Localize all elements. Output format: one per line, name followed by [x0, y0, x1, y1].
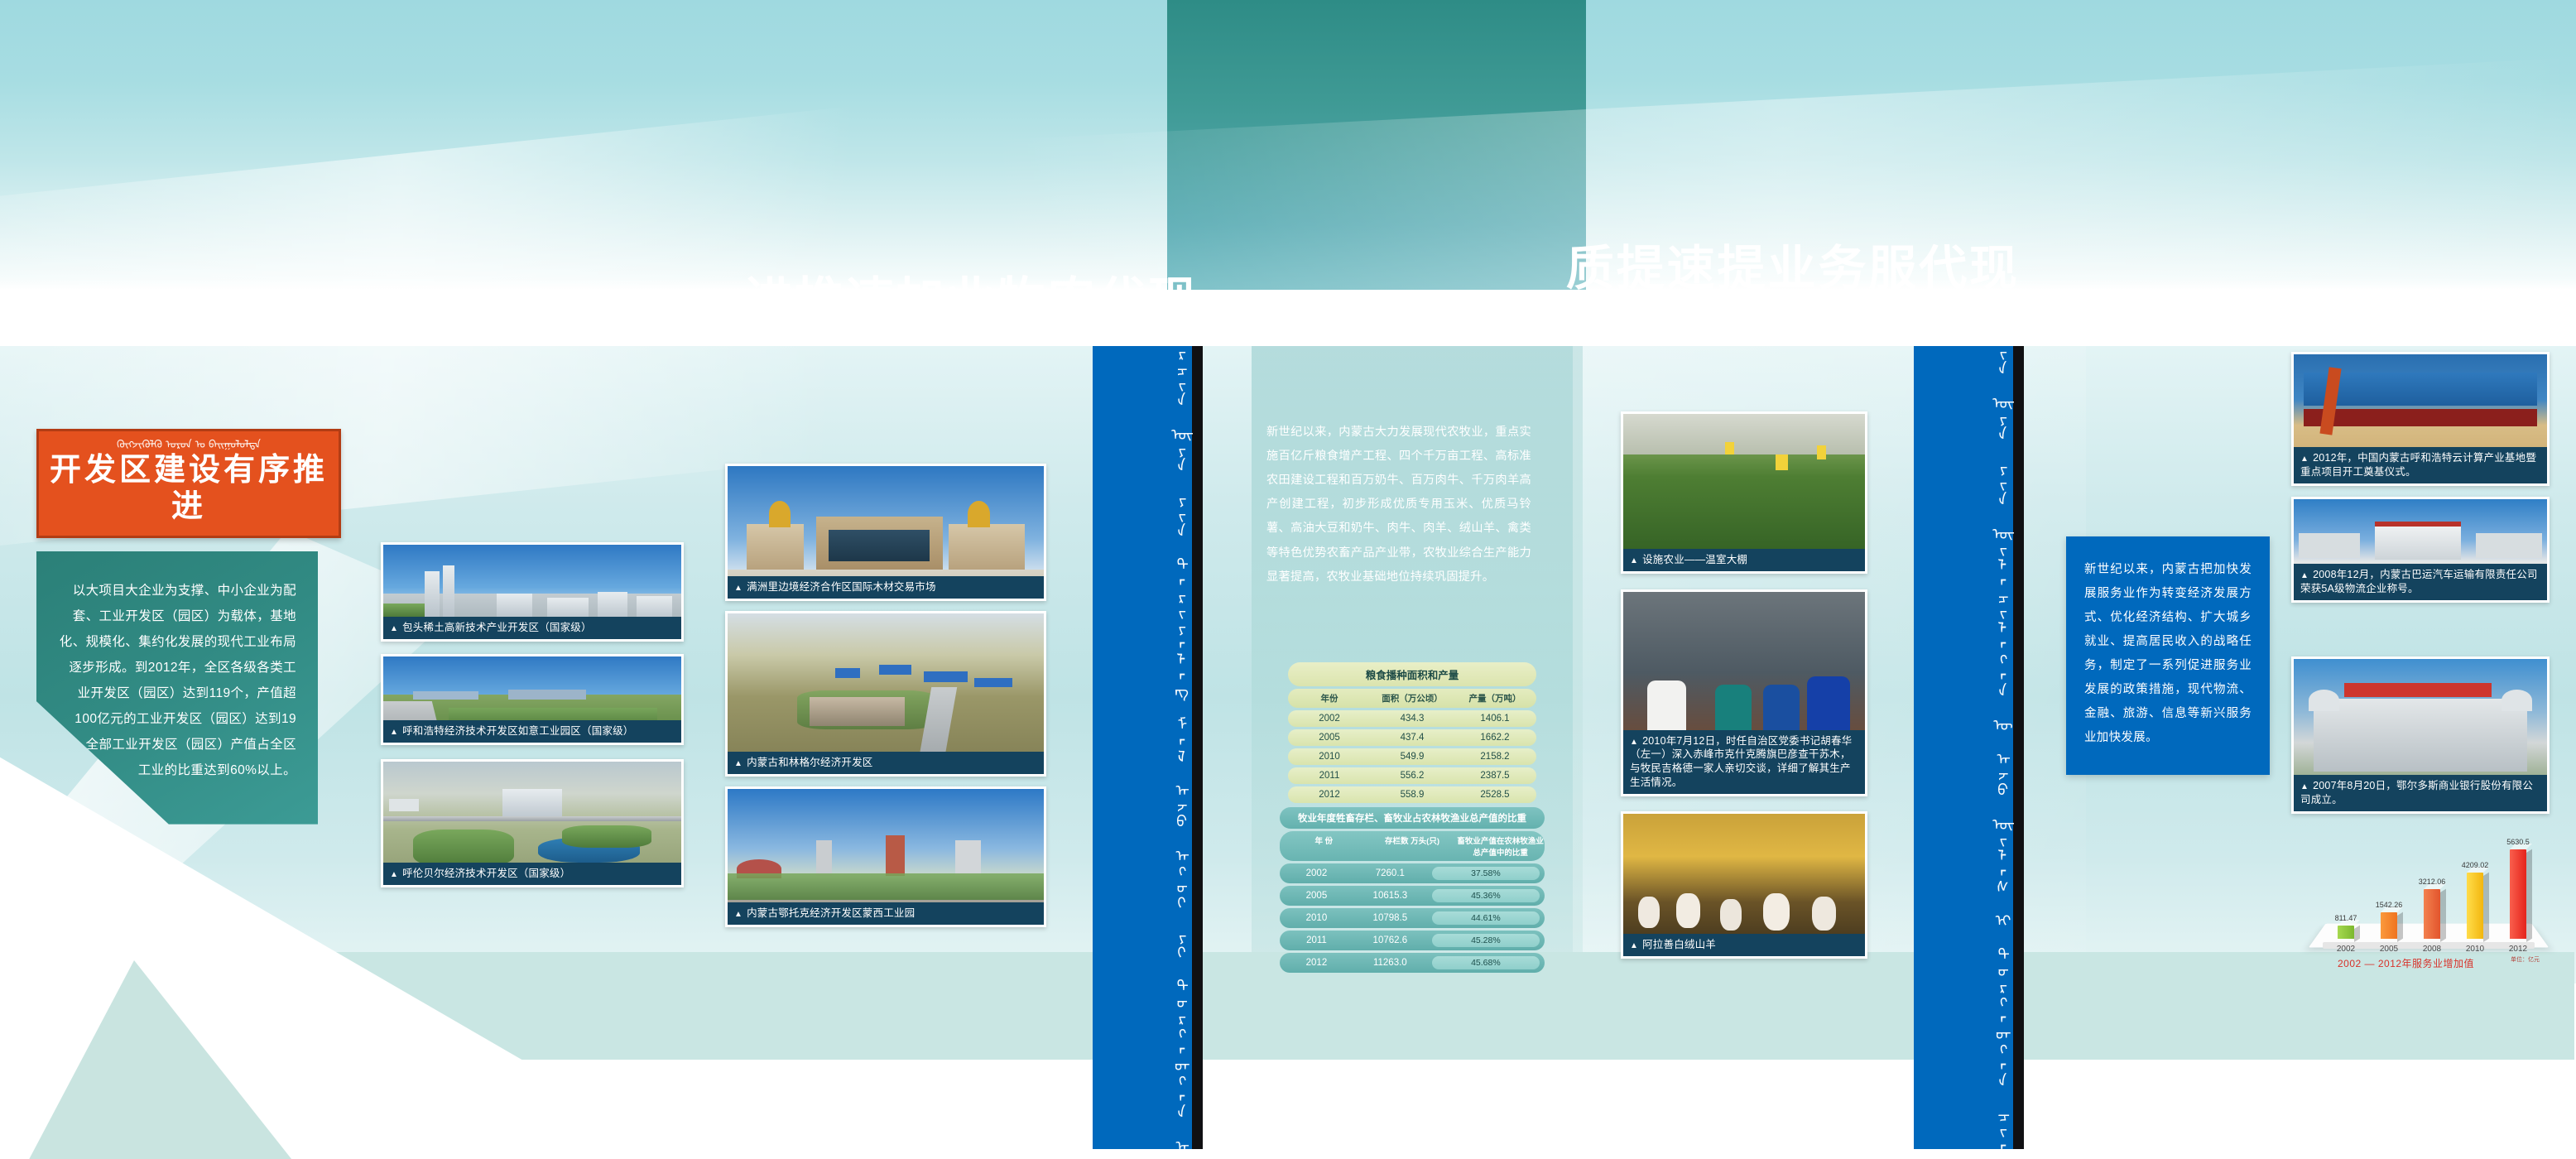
left-section-title-block: ᠬᠥᠭᠵᠢᠭᠦᠯᠬᠦ ᠣᠷᠣᠨ ᠤ ᠪᠠᠢᠭᠤᠯᠤᠯᠲᠠ 开发区建设有序推进 — [36, 429, 341, 538]
photo-card-hohhot-ruyi[interactable]: ▲呼和浩特经济技术开发区如意工业园区（国家级） — [381, 654, 684, 745]
photo-caption: ▲满洲里边境经济合作区国际木材交易市场 — [728, 576, 1044, 599]
share-pill: 45.36% — [1432, 889, 1540, 902]
chart-service-added-value: 811.47 2002 1542.26 2005 3212.06 2008 42… — [2303, 844, 2551, 969]
col-header: 产量（万吨） — [1454, 692, 1536, 705]
vertical-banner-service: 现代服务业提速提质 ᠣᠷᠴᠢᠨ ᠦᠶᠡ ᠶᠢᠨ ᠦᠢᠯᠡᠴᠢᠯᠡᠭᠡᠨ ᠦ ᠠᠵ… — [1914, 346, 2013, 1149]
table-row: 2012 558.9 2528.5 — [1288, 786, 1536, 803]
cell-output: 1406.1 — [1454, 714, 1536, 724]
caption-triangle-icon: ▲ — [2300, 454, 2309, 464]
bar-2005 — [2381, 912, 2397, 939]
photo-card-helingeer[interactable]: ▲内蒙古和林格尔经济开发区 — [725, 611, 1046, 777]
photo-card-cloud-computing[interactable]: ▲2012年，中国内蒙古呼和浩特云计算产业基地暨重点项目开工奠基仪式。 — [2291, 352, 2550, 486]
cell-year: 2012 — [1288, 790, 1371, 800]
bar-value-2002: 811.47 — [2335, 914, 2357, 922]
photo-caption: ▲包头稀土高新技术产业开发区（国家级） — [383, 617, 681, 639]
photo-caption: ▲内蒙古鄂托克经济开发区蒙西工业园 — [728, 902, 1044, 925]
cell-share: 37.58% — [1427, 867, 1545, 880]
photo-card-yurt-visit[interactable]: ▲2010年7月12日，时任自治区党委书记胡春华（左一）深入赤峰市克什克腾旗巴彦… — [1621, 589, 1867, 796]
photo-caption: ▲阿拉善白绒山羊 — [1623, 934, 1865, 956]
cell-area: 549.9 — [1371, 752, 1454, 762]
cell-output: 1662.2 — [1454, 733, 1536, 743]
share-pill: 37.58% — [1432, 867, 1540, 880]
cell-share: 45.68% — [1427, 956, 1545, 969]
left-section-body-panel: 以大项目大企业为支撑、中小企业为配套、工业开发区（园区）为载体，基地化、规模化、… — [36, 551, 318, 825]
table-row: 2012 11263.0 45.68% — [1280, 953, 1545, 973]
bar-value-2012: 5630.5 — [2506, 838, 2530, 846]
center-section-body-text: 新世纪以来，内蒙古大力发展现代农牧业，重点实施百亿斤粮食增产工程、四个千万亩工程… — [1266, 421, 1531, 589]
cell-year: 2002 — [1280, 868, 1353, 878]
col-header: 存栏数 万头(只) — [1368, 834, 1457, 858]
chart-unit-label: 单位：亿元 — [2511, 955, 2540, 964]
cell-year: 2012 — [1280, 958, 1353, 968]
bar-category-2008: 2008 — [2423, 945, 2441, 954]
table-row: 2010 549.9 2158.2 — [1288, 748, 1536, 765]
col-header: 年 份 — [1280, 834, 1368, 858]
caption-triangle-icon: ▲ — [2300, 782, 2309, 791]
background-white-band — [0, 290, 2576, 346]
photo-caption: ▲内蒙古和林格尔经济开发区 — [728, 752, 1044, 774]
photo-card-hulunbuir[interactable]: ▲呼伦贝尔经济技术开发区（国家级） — [381, 759, 684, 887]
table-grain-title: 粮食播种面积和产量 — [1288, 662, 1536, 686]
cell-area: 558.9 — [1371, 790, 1454, 800]
cell-share: 44.61% — [1427, 911, 1545, 925]
bar-category-2005: 2005 — [2380, 945, 2398, 954]
table-row: 2002 7260.1 37.58% — [1280, 863, 1545, 883]
bar-value-2005: 1542.26 — [2376, 901, 2403, 909]
caption-triangle-icon: ▲ — [2300, 571, 2309, 580]
photo-card-alashan-goats[interactable]: ▲阿拉善白绒山羊 — [1621, 811, 1867, 959]
share-pill: 44.61% — [1432, 911, 1540, 925]
banner-agriculture-title-cn: 现代农牧业加速推进 — [738, 274, 1192, 329]
banner-text-wrap: 现代农牧业加速推进 ᠣᠷᠴᠢᠨ ᠦᠶᠡ ᠶᠢᠨ ᠲᠠᠷᠢᠶᠠᠯᠠᠩ ᠮᠠᠯ ᠠᠵ… — [1093, 454, 1192, 1083]
cell-year: 2005 — [1280, 891, 1353, 901]
photo-card-baotou[interactable]: ▲包头稀土高新技术产业开发区（国家级） — [381, 542, 684, 642]
banner-text-wrap: 现代服务业提速提质 ᠣᠷᠴᠢᠨ ᠦᠶᠡ ᠶᠢᠨ ᠦᠢᠯᠡᠴᠢᠯᠡᠭᠡᠨ ᠦ ᠠᠵ… — [1914, 454, 2013, 1083]
bar-value-2010: 4209.02 — [2462, 861, 2489, 869]
bar-value-2008: 3212.06 — [2419, 878, 2446, 886]
table-row: 2010 10798.5 44.61% — [1280, 908, 1545, 928]
table-row: 2005 437.4 1662.2 — [1288, 729, 1536, 746]
cell-output: 2387.5 — [1454, 771, 1536, 781]
photo-greenhouse-agriculture — [1623, 414, 1865, 571]
caption-triangle-icon: ▲ — [734, 759, 743, 768]
cell-output: 2528.5 — [1454, 790, 1536, 800]
banner-agriculture-title-mn: ᠣᠷᠴᠢᠨ ᠦᠶᠡ ᠶᠢᠨ ᠲᠠᠷᠢᠶᠠᠯᠠᠩ ᠮᠠᠯ ᠠᠵᠤ ᠠᠬᠤᠢ ᠶᠢ … — [1164, 329, 1192, 1159]
photo-caption: ▲呼和浩特经济技术开发区如意工业园区（国家级） — [383, 720, 681, 743]
bar-category-2012: 2012 — [2509, 945, 2527, 954]
table-grain-area-output: 粮食播种面积和产量 年份 面积（万公顷） 产量（万吨） 2002 434.3 1… — [1288, 662, 1536, 803]
photo-caption: ▲呼伦贝尔经济技术开发区（国家级） — [383, 863, 681, 885]
vertical-banner-agriculture: 现代农牧业加速推进 ᠣᠷᠴᠢᠨ ᠦᠶᠡ ᠶᠢᠨ ᠲᠠᠷᠢᠶᠠᠯᠠᠩ ᠮᠠᠯ ᠠᠵ… — [1093, 346, 1192, 1149]
cell-stock: 7260.1 — [1353, 868, 1427, 878]
photo-caption: ▲设施农业——温室大棚 — [1623, 549, 1865, 571]
share-pill: 45.68% — [1432, 956, 1540, 969]
caption-triangle-icon: ▲ — [1630, 738, 1638, 747]
banner-service-title-cn: 现代服务业提速提质 — [1560, 243, 2013, 297]
photo-caption: ▲2007年8月20日，鄂尔多斯商业银行股份有限公司成立。 — [2294, 775, 2547, 811]
poster-canvas: ᠬᠥᠭᠵᠢᠭᠦᠯᠬᠦ ᠣᠷᠣᠨ ᠤ ᠪᠠᠢᠭᠤᠯᠤᠯᠲᠠ 开发区建设有序推进 以… — [0, 0, 2576, 1159]
center-section-body: 新世纪以来，内蒙古大力发展现代农牧业，重点实施百亿斤粮食增产工程、四个千万亩工程… — [1266, 421, 1531, 589]
photo-helingeer-zone — [728, 613, 1044, 774]
banner-shadow — [2013, 346, 2024, 1149]
cell-year: 2010 — [1280, 913, 1353, 923]
table-row: 2011 10762.6 45.28% — [1280, 931, 1545, 950]
caption-triangle-icon: ▲ — [390, 728, 398, 737]
cell-share: 45.36% — [1427, 889, 1545, 902]
banner-service-title-mn: ᠣᠷᠴᠢᠨ ᠦᠶᠡ ᠶᠢᠨ ᠦᠢᠯᠡᠴᠢᠯᠡᠭᠡᠨ ᠦ ᠠᠵᠤ ᠦᠢᠯᠡᠰ ᠢ … — [1985, 297, 2013, 1159]
bar-2002 — [2338, 926, 2354, 939]
bar-category-2010: 2010 — [2466, 945, 2484, 954]
right-section-body-text: 新世纪以来，内蒙古把加快发展服务业作为转变经济发展方式、优化经济结构、扩大城乡就… — [2084, 558, 2252, 750]
left-section: ᠬᠥᠭᠵᠢᠭᠦᠯᠬᠦ ᠣᠷᠣᠨ ᠤ ᠪᠠᠢᠭᠤᠯᠤᠯᠲᠠ 开发区建设有序推进 以… — [36, 429, 351, 825]
bar-2008 — [2424, 889, 2440, 939]
bar-2012 — [2510, 849, 2526, 939]
caption-triangle-icon: ▲ — [390, 624, 398, 633]
table-row: 2002 434.3 1406.1 — [1288, 710, 1536, 727]
right-section-body: 新世纪以来，内蒙古把加快发展服务业作为转变经济发展方式、优化经济结构、扩大城乡就… — [2066, 536, 2270, 775]
photo-card-manzhouli[interactable]: ▲满洲里边境经济合作区国际木材交易市场 — [725, 464, 1046, 601]
table-livestock-share: 牧业年度牲畜存栏、畜牧业占农林牧渔业总产值的比重 年 份 存栏数 万头(只) 畜… — [1280, 807, 1545, 973]
photo-card-greenhouse[interactable]: ▲设施农业——温室大棚 — [1621, 411, 1867, 574]
left-title-chinese: 开发区建设有序推进 — [44, 453, 334, 525]
cell-area: 437.4 — [1371, 733, 1454, 743]
cell-stock: 10615.3 — [1353, 891, 1427, 901]
table-row: 2005 10615.3 45.36% — [1280, 886, 1545, 906]
photo-caption: ▲2012年，中国内蒙古呼和浩特云计算产业基地暨重点项目开工奠基仪式。 — [2294, 447, 2547, 483]
left-section-body-text: 以大项目大企业为支撑、中小企业为配套、工业开发区（园区）为载体，基地化、规模化、… — [58, 578, 296, 783]
photo-card-ordos-bank[interactable]: ▲2007年8月20日，鄂尔多斯商业银行股份有限公司成立。 — [2291, 656, 2550, 814]
caption-triangle-icon: ▲ — [390, 870, 398, 879]
table-livestock-header-row: 年 份 存栏数 万头(只) 畜牧业产值在农林牧渔业总产值中的比重 — [1280, 831, 1545, 861]
bar-category-2002: 2002 — [2337, 945, 2355, 954]
share-pill: 45.28% — [1432, 934, 1540, 947]
photo-caption: ▲2008年12月，内蒙古巴运汽车运输有限责任公司荣获5A级物流企业称号。 — [2294, 564, 2547, 600]
caption-triangle-icon: ▲ — [734, 910, 743, 919]
cell-area: 556.2 — [1371, 771, 1454, 781]
col-header: 面积（万公顷） — [1371, 692, 1454, 705]
cell-area: 434.3 — [1371, 714, 1454, 724]
cell-stock: 10762.6 — [1353, 935, 1427, 945]
table-grain-header-row: 年份 面积（万公顷） 产量（万吨） — [1288, 689, 1536, 708]
bar-2010 — [2467, 873, 2483, 939]
cell-output: 2158.2 — [1454, 752, 1536, 762]
chart-title: 2002 — 2012年服务业增加值 — [2338, 956, 2474, 970]
table-row: 2011 556.2 2387.5 — [1288, 767, 1536, 784]
table-livestock-title: 牧业年度牲畜存栏、畜牧业占农林牧渔业总产值的比重 — [1280, 807, 1545, 829]
col-header: 年份 — [1288, 692, 1371, 705]
cell-year: 2005 — [1288, 733, 1371, 743]
left-title-mongolian: ᠬᠥᠭᠵᠢᠭᠦᠯᠬᠦ ᠣᠷᠣᠨ ᠤ ᠪᠠᠢᠭᠤᠯᠤᠯᠲᠠ — [44, 440, 334, 451]
photo-card-bayun-logistics[interactable]: ▲2008年12月，内蒙古巴运汽车运输有限责任公司荣获5A级物流企业称号。 — [2291, 497, 2550, 603]
photo-caption: ▲2010年7月12日，时任自治区党委书记胡春华（左一）深入赤峰市克什克腾旗巴彦… — [1623, 730, 1865, 795]
cell-year: 2011 — [1288, 771, 1371, 781]
caption-triangle-icon: ▲ — [734, 584, 743, 593]
cell-year: 2010 — [1288, 752, 1371, 762]
banner-shadow — [1192, 346, 1203, 1149]
caption-triangle-icon: ▲ — [1630, 556, 1638, 565]
cell-share: 45.28% — [1427, 934, 1545, 947]
cell-year: 2002 — [1288, 714, 1371, 724]
col-header: 畜牧业产值在农林牧渔业总产值中的比重 — [1456, 834, 1545, 858]
caption-triangle-icon: ▲ — [1630, 941, 1638, 950]
cell-year: 2011 — [1280, 935, 1353, 945]
cell-stock: 11263.0 — [1353, 958, 1427, 968]
photo-card-etuoke[interactable]: ▲内蒙古鄂托克经济开发区蒙西工业园 — [725, 786, 1046, 927]
cell-stock: 10798.5 — [1353, 913, 1427, 923]
